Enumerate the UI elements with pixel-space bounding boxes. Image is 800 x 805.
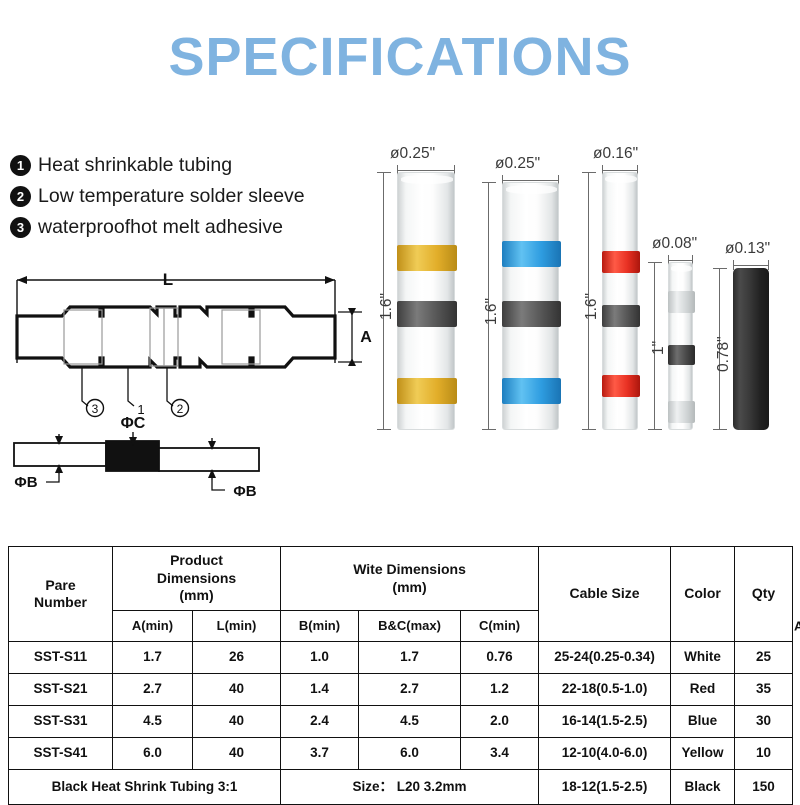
phi-b-right-label: ΦB bbox=[233, 483, 256, 500]
product-dim-line3: (mm) bbox=[179, 587, 213, 603]
list-item: 3 waterproofhot melt adhesive bbox=[10, 212, 370, 243]
subheader-b-min: B(min) bbox=[281, 611, 359, 642]
cell-qty: 150 bbox=[735, 770, 793, 805]
cell-b-min: 1.4 bbox=[281, 674, 359, 706]
subheader-a-min: A(min) bbox=[113, 611, 193, 642]
yellow-connector-body bbox=[397, 172, 455, 430]
feature-label: Heat shrinkable tubing bbox=[38, 154, 232, 177]
white-band-bottom bbox=[668, 401, 695, 423]
part-number-line1: Pare bbox=[45, 577, 75, 593]
cell-qty: 10 bbox=[735, 738, 793, 770]
subheader-c-min: C(min) bbox=[461, 611, 539, 642]
cell-part-number: SST-S41 bbox=[9, 738, 113, 770]
blue-band-top bbox=[502, 241, 561, 267]
cell-l-min: 40 bbox=[193, 674, 281, 706]
red-band-top bbox=[602, 251, 640, 273]
column-header-qty: Qty bbox=[735, 547, 793, 642]
cell-cable-size: 12-10(4.0-6.0) bbox=[539, 738, 671, 770]
cell-c-min: 3.4 bbox=[461, 738, 539, 770]
cell-cable-size: 25-24(0.25-0.34) bbox=[539, 642, 671, 674]
number-badge-icon: 3 bbox=[10, 217, 31, 238]
column-header-cable-size: Cable Size bbox=[539, 547, 671, 642]
cell-a-min: 6.0 bbox=[113, 738, 193, 770]
table-row: SST-S31 4.5 40 2.4 4.5 2.0 16-14(1.5-2.5… bbox=[9, 706, 793, 738]
cell-part-number: SST-S31 bbox=[9, 706, 113, 738]
cell-qty: 35 bbox=[735, 674, 793, 706]
cell-color: Red bbox=[671, 674, 735, 706]
product-2-height-label: 1.6" bbox=[483, 298, 501, 325]
column-header-wire-dimensions: Wite Dimensions (mm) bbox=[281, 547, 539, 611]
table-row: SST-S21 2.7 40 1.4 2.7 1.2 22-18(0.5-1.0… bbox=[9, 674, 793, 706]
list-item: 1 Heat shrinkable tubing bbox=[10, 150, 370, 181]
cell-qty: 25 bbox=[735, 642, 793, 674]
column-header-part-number: Pare Number bbox=[9, 547, 113, 642]
cell-a-min: 2.7 bbox=[113, 674, 193, 706]
table-row-summary: Black Heat Shrink Tubing 3:1 Size： L20 3… bbox=[9, 770, 793, 805]
part-number-line2: Number bbox=[34, 594, 87, 610]
cell-cable-size: 22-18(0.5-1.0) bbox=[539, 674, 671, 706]
phi-c-label: ΦC bbox=[121, 415, 146, 432]
diameter-dimension-label: A bbox=[360, 329, 372, 346]
red-band-bottom bbox=[602, 375, 640, 397]
wire-solder-section bbox=[106, 441, 159, 471]
cell-c-min: 0.76 bbox=[461, 642, 539, 674]
wire-dim-line2: (mm) bbox=[392, 579, 426, 595]
solder-sleeve-schematic: L A bbox=[0, 258, 380, 523]
solder-ring bbox=[602, 305, 640, 327]
cell-cable-size: 16-14(1.5-2.5) bbox=[539, 706, 671, 738]
blue-band-bottom bbox=[502, 378, 561, 404]
cell-b-min: 2.4 bbox=[281, 706, 359, 738]
length-dimension-label: L bbox=[163, 270, 173, 289]
yellow-band-bottom bbox=[397, 378, 457, 404]
product-3-height-label: 1.6" bbox=[583, 293, 601, 320]
cell-part-number: SST-S11 bbox=[9, 642, 113, 674]
solder-ring bbox=[397, 301, 457, 327]
product-2-diameter-label: ø0.25" bbox=[495, 155, 540, 173]
product-3-diameter-label: ø0.16" bbox=[593, 145, 638, 163]
list-item: 2 Low temperature solder sleeve bbox=[10, 181, 370, 212]
specification-sheet: SPECIFICATIONS 1 Heat shrinkable tubing … bbox=[0, 0, 800, 800]
specifications-table: Pare Number Product Dimensions (mm) Wite… bbox=[8, 546, 793, 805]
callout-2-label: 2 bbox=[177, 402, 184, 416]
table-row: SST-S11 1.7 26 1.0 1.7 0.76 25-24(0.25-0… bbox=[9, 642, 793, 674]
phi-b-left-label: ΦB bbox=[14, 474, 37, 491]
cell-bc-max: 1.7 bbox=[359, 642, 461, 674]
cell-bc-max: 2.7 bbox=[359, 674, 461, 706]
product-4-height-label: 1" bbox=[650, 341, 668, 355]
product-5-height-label: 0.78" bbox=[715, 336, 733, 372]
table-row: SST-S41 6.0 40 3.7 6.0 3.4 12-10(4.0-6.0… bbox=[9, 738, 793, 770]
number-badge-icon: 2 bbox=[10, 186, 31, 207]
product-4-diameter-label: ø0.08" bbox=[652, 235, 697, 253]
subheader-l-min: L(min) bbox=[193, 611, 281, 642]
cell-cable-size: 18-12(1.5-2.5) bbox=[539, 770, 671, 805]
cell-a-min: 4.5 bbox=[113, 706, 193, 738]
wire-left bbox=[14, 443, 106, 466]
cell-b-min: 1.0 bbox=[281, 642, 359, 674]
cell-bc-max: 4.5 bbox=[359, 706, 461, 738]
cell-color: Yellow bbox=[671, 738, 735, 770]
cell-a-min: 1.7 bbox=[113, 642, 193, 674]
product-dim-line1: Product bbox=[170, 552, 223, 568]
feature-label: Low temperature solder sleeve bbox=[38, 185, 305, 208]
blue-connector-body bbox=[502, 182, 559, 430]
wire-right bbox=[159, 448, 259, 471]
cell-b-min: 3.7 bbox=[281, 738, 359, 770]
product-1-height-label: 1.6" bbox=[378, 293, 396, 320]
white-connector-body bbox=[668, 262, 693, 430]
white-band-top bbox=[668, 291, 695, 313]
feature-list: 1 Heat shrinkable tubing 2 Low temperatu… bbox=[10, 150, 370, 243]
solder-ring bbox=[502, 301, 561, 327]
column-header-product-dimensions: Product Dimensions (mm) bbox=[113, 547, 281, 611]
cell-color: Black bbox=[671, 770, 735, 805]
cell-bc-max: 6.0 bbox=[359, 738, 461, 770]
cell-l-min: 40 bbox=[193, 738, 281, 770]
yellow-band-top bbox=[397, 245, 457, 271]
product-illustrations: ø0.25" 1.6" ø0.25" 1.6" ø0.16" bbox=[380, 140, 800, 460]
wire-dim-line1: Wite Dimensions bbox=[353, 561, 466, 577]
solder-ring bbox=[668, 345, 695, 365]
cell-c-min: 1.2 bbox=[461, 674, 539, 706]
cell-tubing-size: Size： L20 3.2mm bbox=[281, 770, 539, 805]
cell-color: White bbox=[671, 642, 735, 674]
page-title: SPECIFICATIONS bbox=[0, 26, 800, 88]
cell-part-number: SST-S21 bbox=[9, 674, 113, 706]
cell-qty: 30 bbox=[735, 706, 793, 738]
cell-l-min: 26 bbox=[193, 642, 281, 674]
black-heat-shrink-body bbox=[733, 268, 769, 430]
cell-c-min: 2.0 bbox=[461, 706, 539, 738]
product-dim-line2: Dimensions bbox=[157, 570, 236, 586]
red-connector-body bbox=[602, 172, 638, 430]
callout-3-label: 3 bbox=[92, 402, 99, 416]
technical-drawing: L A bbox=[0, 258, 380, 523]
cell-l-min: 40 bbox=[193, 706, 281, 738]
cell-color: Blue bbox=[671, 706, 735, 738]
product-1-diameter-label: ø0.25" bbox=[390, 145, 435, 163]
product-5-diameter-label: ø0.13" bbox=[725, 240, 770, 258]
column-header-color: Color bbox=[671, 547, 735, 642]
subheader-bc-max: B&C(max) bbox=[359, 611, 461, 642]
number-badge-icon: 1 bbox=[10, 155, 31, 176]
cell-tubing-description: Black Heat Shrink Tubing 3:1 bbox=[9, 770, 281, 805]
feature-label: waterproofhot melt adhesive bbox=[38, 216, 283, 239]
